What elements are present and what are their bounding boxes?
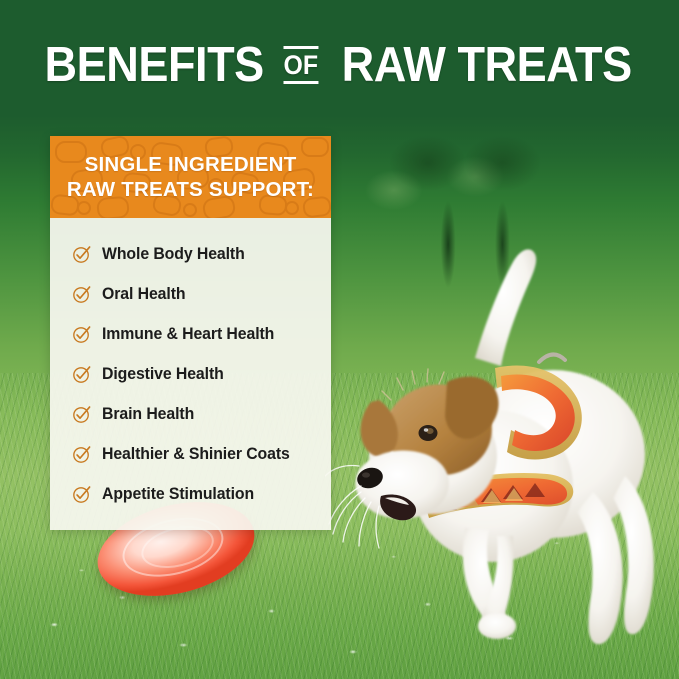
benefit-label: Oral Health <box>102 285 185 304</box>
dog-photo-subject <box>325 240 679 670</box>
title-word-benefits: BENEFITS <box>44 41 263 90</box>
card-header-line-1: SINGLE INGREDIENT <box>85 152 297 177</box>
benefit-label: Brain Health <box>102 405 194 424</box>
check-circle-icon <box>72 405 91 424</box>
page-title: BENEFITS OF RAW TREATS <box>0 36 679 94</box>
benefits-list: Whole Body Health Oral Health Immune & H… <box>50 218 331 530</box>
list-item: Immune & Heart Health <box>72 314 319 354</box>
benefits-card: SINGLE INGREDIENT RAW TREATS SUPPORT: Wh… <box>50 136 331 530</box>
card-header-line-2: RAW TREATS SUPPORT: <box>67 177 314 202</box>
check-circle-icon <box>72 285 91 304</box>
check-circle-icon <box>72 485 91 504</box>
title-word-of: OF <box>284 46 319 84</box>
list-item: Whole Body Health <box>72 234 319 274</box>
check-circle-icon <box>72 325 91 344</box>
title-word-raw-treats: RAW TREATS <box>341 41 631 90</box>
list-item: Appetite Stimulation <box>72 474 319 514</box>
benefit-label: Healthier & Shinier Coats <box>102 445 290 464</box>
list-item: Oral Health <box>72 274 319 314</box>
check-circle-icon <box>72 445 91 464</box>
list-item: Healthier & Shinier Coats <box>72 434 319 474</box>
benefit-label: Whole Body Health <box>102 245 245 264</box>
benefits-card-header: SINGLE INGREDIENT RAW TREATS SUPPORT: <box>50 136 331 218</box>
list-item: Brain Health <box>72 394 319 434</box>
check-circle-icon <box>72 245 91 264</box>
benefit-label: Immune & Heart Health <box>102 325 274 344</box>
check-circle-icon <box>72 365 91 384</box>
benefit-label: Appetite Stimulation <box>102 485 254 504</box>
list-item: Digestive Health <box>72 354 319 394</box>
benefit-label: Digestive Health <box>102 365 224 384</box>
